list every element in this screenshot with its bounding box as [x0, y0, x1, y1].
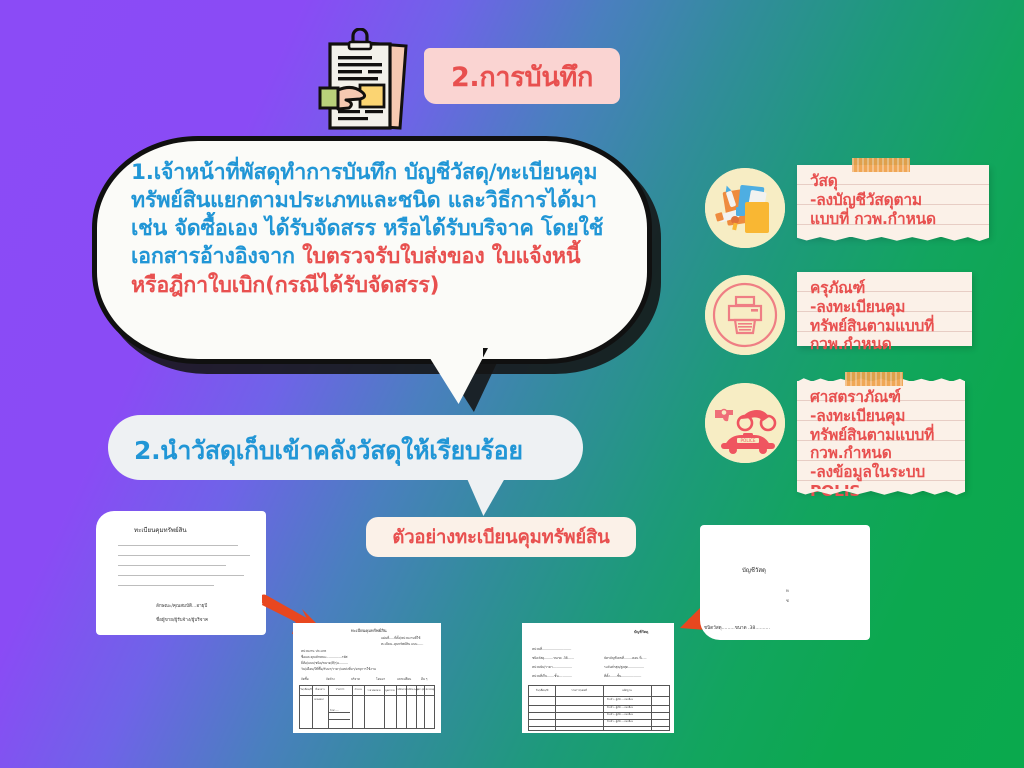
doc1-line1: ลักษณะ/คุณสมบัติ...อายุปี: [156, 603, 207, 610]
document-asset-register-thumbnail[interactable]: ทะเบียนคุมทรัพย์สิน ลักษณะ/คุณสมบัติ...อ…: [96, 511, 266, 635]
main-bubble-text: 1.เจ้าหน้าที่พัสดุทำการบันทึก บัญชีวัสดุ…: [131, 159, 617, 300]
stationery-supplies-icon: [705, 168, 785, 248]
table-hline: [529, 712, 669, 713]
doc2-meta-left-3: ยี่ห้อ/แบบ/ชนิด/ขนาด/สี/รุ่น.........: [301, 661, 348, 666]
doc4-title: บัญชีวัสดุ: [742, 565, 766, 575]
table-vline: [396, 686, 397, 728]
main-speech-bubble: 1.เจ้าหน้าที่พัสดุทำการบันทึก บัญชีวัสดุ…: [92, 136, 652, 364]
doc3-meta-left-1: หน่วยที่.............................: [532, 647, 571, 652]
doc2-chip-3: โอนมา: [376, 677, 385, 682]
second-speech-bubble: 2.นำวัสดุเก็บเข้าคลังวัสดุให้เรียบร้อย: [108, 415, 583, 480]
doc2-chip-1: จัดจ้าง: [326, 677, 335, 682]
table-hline: [529, 726, 669, 727]
doc2-chip-5: อื่น ๆ: [421, 677, 427, 682]
gun-motorcycle-policecar-icon: POLICE: [705, 383, 785, 463]
doc2-table: วัน/เดือน/ปี ที่เอกสาร รายการ จำนวน ราคา…: [299, 685, 435, 729]
doc4-footer: ชนิดวัสดุ.........ขนาด .38..........: [704, 625, 770, 632]
note-weapons-title: ศาสตราภัณฑ์: [810, 388, 953, 407]
table-hline: [300, 695, 434, 696]
doc2-col-2: รายการ: [328, 688, 352, 692]
doc2-col-1: ที่เอกสาร: [312, 688, 328, 692]
doc4-meta-2: ช: [786, 597, 789, 604]
sample-register-label-text: ตัวอย่างทะเบียนคุมทรัพย์สิน: [392, 523, 609, 552]
doc3-meta-right-1: บัตรบัญชีเลขที่........ตอน ที่.....: [604, 656, 646, 661]
table-vline: [328, 686, 329, 728]
table-vline: [364, 686, 365, 728]
doc3-meta-left-3: หน่วยนับ/ราคา...................: [532, 665, 572, 670]
doc2-col-3: จำนวน: [352, 688, 364, 692]
clipboard-document-hand-icon: [308, 28, 420, 140]
note-material-title: วัสดุ: [810, 172, 977, 191]
doc2-meta-right-1: แผ่นที่.....ที่ตั้ง/หน่วยงานที่ใช้: [381, 636, 420, 641]
doc3-meta-left-4: หน่วยที่เก็บ.......ชั้น.............: [532, 674, 572, 679]
document-asset-register-form[interactable]: ทะเบียนคุมทรัพย์สิน แผ่นที่.....ที่ตั้ง/…: [293, 623, 441, 733]
doc2-meta-right-2: ทะเบียน..คุมทรัพย์สิน แบบ......: [381, 642, 423, 647]
note-durable-goods-lines: -ลงทะเบียนคุม ทรัพย์สินตามแบบที่ กวพ.กำห…: [810, 298, 960, 354]
tape-icon: [852, 158, 910, 172]
sample-register-label: ตัวอย่างทะเบียนคุมทรัพย์สิน: [366, 517, 636, 557]
doc2-col-6: ค่าเสื่อมราคา: [396, 688, 406, 691]
doc-rule: [118, 555, 250, 556]
doc3-col-0: วัน/เดือน/ปี: [529, 689, 555, 693]
second-bubble-text: 2.นำวัสดุเก็บเข้าคลังวัสดุให้เรียบร้อย: [134, 431, 523, 471]
doc3-meta-right-2: ระดับต่ำสุด/สูงสุด................: [604, 665, 644, 670]
doc2-meta-left-2: ชื่อและคุณลักษณะ...............รหัส: [301, 655, 348, 660]
note-durable-goods-title: ครุภัณฑ์: [810, 279, 960, 298]
second-bubble-tail: [465, 474, 511, 516]
doc2-meta-right-3: [381, 655, 382, 659]
doc4-meta-1: ห: [786, 587, 789, 594]
doc-rule: [118, 585, 214, 586]
doc2-col-5: มูลค่ารวม: [384, 688, 396, 692]
doc-rule: [118, 565, 226, 566]
doc3-corner-label: บัญชีวัสดุ: [634, 629, 648, 635]
note-material-lines: -ลงบัญชีวัสดุตาม แบบที่ กวพ.กำหนด: [810, 191, 977, 229]
table-hline: [529, 696, 669, 697]
doc3-meta-right-3: ที่ตั้ง.......ชั้น....................: [604, 674, 641, 679]
svg-text:POLICE: POLICE: [741, 438, 756, 443]
doc2-meta-left-1: หน่วยงาน ประเภท: [301, 649, 326, 654]
table-vline: [406, 686, 407, 728]
doc2-col-4: ราคาต่อหน่วย: [364, 688, 384, 692]
doc1-line2: ชื่อผู้ขาย/ผู้รับจ้าง/ผู้บริจาค: [156, 617, 208, 624]
page-title: 2.การบันทึก: [451, 55, 593, 98]
doc2-meta-left-4: วัน/เดือน/ปีที่ซื้อ/รับมา/ราคา/แหล่งที่ม…: [301, 667, 376, 672]
doc3-col-2: หลักฐาน: [603, 689, 651, 693]
table-vline: [424, 686, 425, 728]
doc2-chip-4: แลกเปลี่ยน: [397, 677, 411, 682]
doc2-col-0: วัน/เดือน/ปี: [300, 688, 312, 692]
tape-icon: [845, 372, 903, 386]
doc2-chip-2: บริจาค: [351, 677, 360, 682]
doc3-table: วัน/เดือน/ปี รายการ/เลขที่ หลักฐาน รับเข…: [528, 685, 670, 731]
doc2-col-8: มูลค่า สุทธิ: [416, 688, 424, 691]
doc-rule: [118, 545, 238, 546]
table-vline: [651, 686, 652, 730]
doc3-cell-2: รับเข้า...ผู้เบิก....แบบที่ลง: [607, 713, 633, 717]
table-vline: [352, 686, 353, 728]
doc2-row-note: ยกยอดมา: [314, 698, 324, 702]
doc2-col-7: ค่าเสื่อม สะสม: [406, 688, 416, 691]
page-title-banner: 2.การบันทึก: [424, 48, 620, 104]
note-material: วัสดุ -ลงบัญชีวัสดุตาม แบบที่ กวพ.กำหนด: [797, 165, 989, 237]
printer-icon: [705, 275, 785, 355]
table-hline: [328, 712, 350, 713]
doc2-chip-0: จัดซื้อ: [301, 677, 309, 682]
table-hline: [529, 705, 669, 706]
document-material-account[interactable]: บัญชีวัสดุ ห ช ชนิดวัสดุ.........ขนาด .3…: [700, 525, 870, 640]
document-receipt-form[interactable]: บัญชีวัสดุ หน่วยที่.....................…: [522, 623, 674, 733]
doc-rule: [118, 575, 244, 576]
note-weapons-lines: -ลงทะเบียนคุม ทรัพย์สินตามแบบที่ กวพ.กำห…: [810, 407, 953, 501]
doc1-title: ทะเบียนคุมทรัพย์สิน: [134, 525, 187, 535]
table-vline: [312, 686, 313, 728]
table-hline: [328, 719, 350, 720]
table-vline: [384, 686, 385, 728]
doc3-cell-1: รับเข้า...ผู้เบิก....แบบที่ลง: [607, 706, 633, 710]
table-vline: [416, 686, 417, 728]
doc3-meta-left-2: ชนิดวัสดุ.........ขนาด .38......: [532, 656, 574, 661]
doc3-cell-3: รับเข้า...ผู้เบิก....แบบที่ลง: [607, 720, 633, 724]
doc2-col-9: หมายเหตุ: [424, 688, 436, 691]
doc2-title: ทะเบียนคุมทรัพย์สิน: [351, 627, 387, 634]
note-durable-goods: ครุภัณฑ์ -ลงทะเบียนคุม ทรัพย์สินตามแบบที…: [797, 272, 972, 346]
doc3-cell-0: รับเข้า...ผู้เบิก....แบบที่ลง: [607, 698, 633, 702]
table-hline: [529, 719, 669, 720]
doc3-col-1: รายการ/เลขที่: [555, 689, 603, 693]
note-weapons: ศาสตราภัณฑ์ -ลงทะเบียนคุม ทรัพย์สินตามแบ…: [797, 381, 965, 491]
